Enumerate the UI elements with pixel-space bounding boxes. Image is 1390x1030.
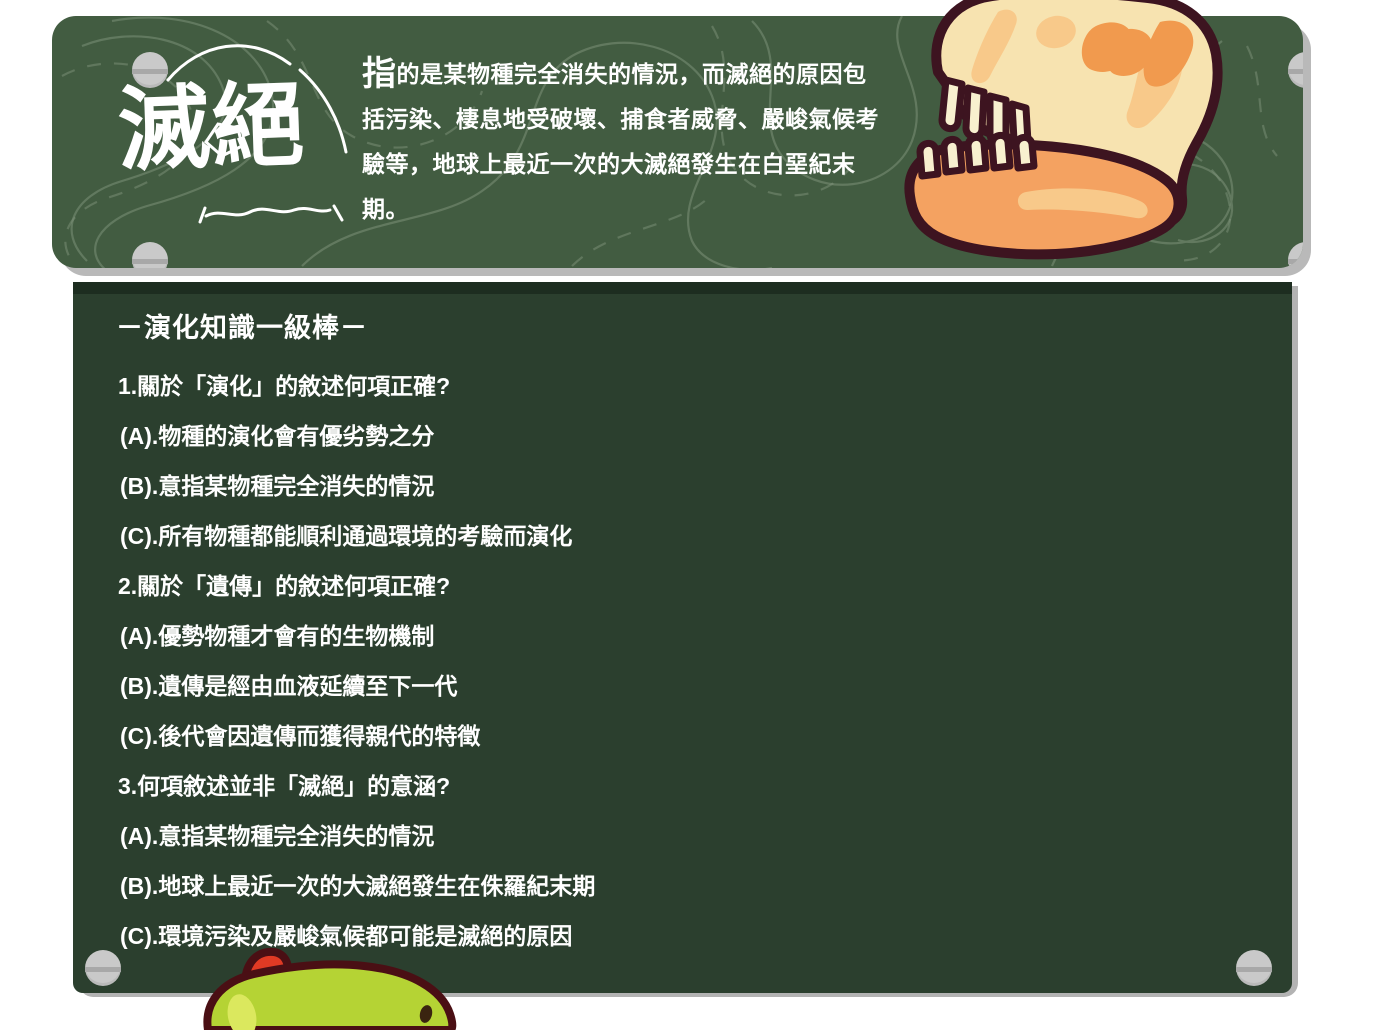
quiz-heading: －演化知識一級棒－ (116, 306, 1216, 345)
description-lead-char: 指 (362, 55, 397, 93)
question-1-option-a[interactable]: (A).物種的演化會有優劣勢之分 (116, 411, 1216, 461)
description-body: 的是某物種完全消失的情況，而滅絕的原因包括污染、棲息地受破壞、捕食者威脅、嚴峻氣… (362, 61, 879, 222)
topic-description: 指的是某物種完全消失的情況，而滅絕的原因包括污染、棲息地受破壞、捕食者威脅、嚴峻… (362, 52, 882, 232)
question-3-option-b[interactable]: (B).地球上最近一次的大滅絕發生在侏羅紀末期 (116, 861, 1216, 911)
question-1-option-b[interactable]: (B).意指某物種完全消失的情況 (116, 461, 1216, 511)
question-2-option-a[interactable]: (A).優勢物種才會有的生物機制 (116, 611, 1216, 661)
topic-title-wrapper: 滅絕 (118, 82, 368, 212)
question-2-option-b[interactable]: (B).遺傳是經由血液延續至下一代 (116, 661, 1216, 711)
quiz-content: －演化知識一級棒－ 1.關於「演化」的敘述何項正確? (A).物種的演化會有優劣… (116, 306, 1216, 961)
topic-title: 滅絕 (116, 79, 307, 178)
screw-icon-board-bottom-right (1236, 950, 1272, 986)
board-top-strip (73, 282, 1292, 294)
poster-stage: 滅絕 指的是某物種完全消失的情況，而滅絕的原因包括污染、棲息地受破壞、捕食者威脅… (0, 0, 1390, 1024)
question-2-text: 2.關於「遺傳」的敘述何項正確? (116, 561, 1216, 611)
question-3-option-c[interactable]: (C).環境污染及嚴峻氣候都可能是滅絕的原因 (116, 911, 1216, 961)
question-1-text: 1.關於「演化」的敘述何項正確? (116, 361, 1216, 411)
question-2-option-c[interactable]: (C).後代會因遺傳而獲得親代的特徵 (116, 711, 1216, 761)
question-3-text: 3.何項敘述並非「滅絕」的意涵? (116, 761, 1216, 811)
question-1-option-c[interactable]: (C).所有物種都能順利通過環境的考驗而演化 (116, 511, 1216, 561)
question-3-option-a[interactable]: (A).意指某物種完全消失的情況 (116, 811, 1216, 861)
dinosaur-skull-icon (880, 0, 1230, 274)
